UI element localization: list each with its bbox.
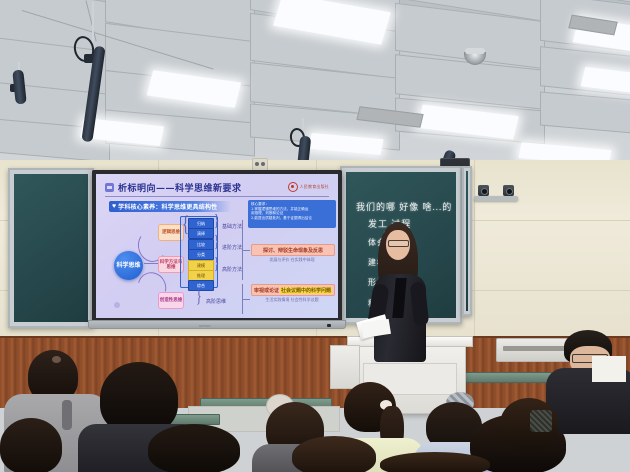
student <box>148 424 240 472</box>
student-hair <box>0 418 62 472</box>
hair-accessory <box>530 410 552 432</box>
wall-camera-bracket <box>474 196 518 201</box>
teacher-arm <box>410 281 430 326</box>
slide-banner: ♥ 学科核心素养：科学思维更具结构性 <box>109 201 231 212</box>
group-label: 进阶方法 <box>222 244 242 251</box>
wall-panel <box>474 160 630 221</box>
student-hair <box>148 424 240 472</box>
mic-rod <box>302 118 304 130</box>
slide-title-row: 析标明向——科学思维新要求 人民教育出版社 <box>105 181 329 197</box>
hanging-microphone <box>78 2 108 140</box>
hair-clip <box>52 356 61 363</box>
slide-highlight-box: 审视或论证 社会议题中的科学问题 <box>251 284 335 296</box>
org-logo-icon <box>288 182 298 192</box>
slide-title: 析标明向——科学思维新要求 <box>118 181 242 194</box>
org-logo-text: 人民教育出版社 <box>300 184 329 190</box>
student <box>0 418 66 472</box>
group-brace: } <box>214 234 219 251</box>
smartboard-bezel: seewo <box>88 320 346 329</box>
chalkboard-edge <box>462 166 472 316</box>
org-logo: 人民教育出版社 <box>288 182 329 192</box>
group-label: 高阶方法 <box>222 266 242 273</box>
mindmap-column-box: 演绎 <box>188 228 214 239</box>
glasses-icon <box>388 240 409 247</box>
heart-icon: ♥ <box>112 203 116 210</box>
highlight-text: 审视或论证 <box>254 287 279 294</box>
chalkboard-left-frame <box>8 168 94 328</box>
mindmap-connector <box>144 263 158 264</box>
mindmap-core-node: 科学思维 <box>114 251 143 280</box>
group-brace: } <box>214 256 219 273</box>
sensor-lens <box>255 162 259 166</box>
slide-info-box: 核心要求： 1.掌握逻辑思维的方法，并能正确运 用推理、判断和论证 2.能提出质… <box>248 200 336 228</box>
interactive-smartboard[interactable]: 析标明向——科学思维新要求 人民教育出版社 ♥ 学科核心素养：科学思维更具结构性… <box>92 170 342 322</box>
chalkboard-left-panel <box>14 174 88 322</box>
highlight-emphasis: 社会议题中的科学问题 <box>280 287 332 294</box>
mindmap-branch-node: 创造性思维 <box>158 292 184 309</box>
power-indicator <box>327 324 331 327</box>
right-connector <box>242 250 250 251</box>
student-hair <box>380 452 490 472</box>
classroom-photo-scene: 我们的哪 好像 啥...的 发工 过程 ↓ 体会概念 ↓ 建构模型 ↓ 形成方法… <box>0 0 630 472</box>
smartboard-brand: seewo <box>199 323 211 328</box>
teacher <box>372 222 434 362</box>
chalk-line-1: 我们的哪 好像 啥...的 <box>356 200 452 213</box>
mindmap-column-box: 分类 <box>188 249 214 260</box>
group-brace: } <box>196 287 202 305</box>
group-label: 高阶思维 <box>206 298 226 305</box>
mic-rod <box>92 2 94 42</box>
chalkboard-edge-surface <box>466 171 468 311</box>
wall-panel <box>474 220 630 291</box>
sensor-lens <box>261 162 265 166</box>
slide-decor-dot <box>114 302 120 308</box>
hanging-microphone <box>8 62 30 124</box>
highlight-text: 探讨、辩驳生命现象及反思 <box>263 247 323 254</box>
info-line: 2.能提出质疑批判，基于证据得出结论 <box>251 216 333 221</box>
presentation-slide: 析标明向——科学思维新要求 人民教育出版社 ♥ 学科核心素养：科学思维更具结构性… <box>96 174 338 318</box>
student <box>500 398 560 454</box>
slide-highlight-box: 探讨、辩驳生命现象及反思 <box>251 244 335 256</box>
highlight-subtext: 生活实践情境 社会性科学议题 <box>256 297 328 303</box>
mic-body <box>12 70 26 105</box>
student <box>292 436 376 472</box>
slide-banner-text: 学科核心素养：科学思维更具结构性 <box>118 202 217 211</box>
group-label: 基础方法 <box>222 223 242 230</box>
wall-mounted-camera <box>478 185 489 196</box>
highlight-subtext: 发展与评价 在实践中体现 <box>256 257 328 263</box>
student <box>592 356 630 416</box>
right-connector <box>242 299 250 300</box>
student-paper <box>592 356 626 382</box>
wall-mounted-camera <box>503 185 514 196</box>
slide-title-icon <box>105 183 114 192</box>
ceiling-tile <box>540 91 630 138</box>
student-hair <box>292 436 376 472</box>
group-brace: } <box>214 213 219 230</box>
student <box>380 452 490 472</box>
